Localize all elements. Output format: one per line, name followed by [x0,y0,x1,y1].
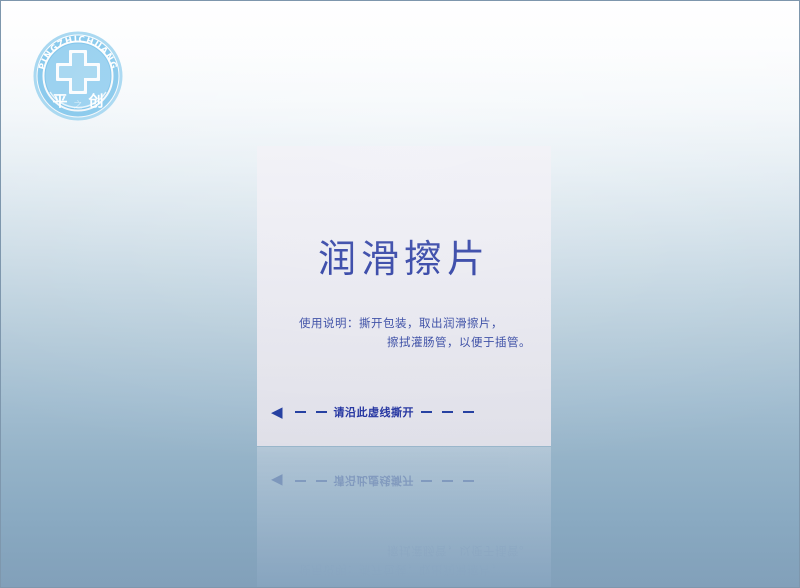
product-title: 润滑擦片 [257,228,551,283]
reflection-tear-line: ◀ 请沿此虚线撕开 [271,473,541,489]
tear-arrow-left-icon: ◀ [271,405,283,420]
tear-dash [295,411,306,413]
tear-dash [463,480,474,482]
tear-dash [421,411,432,413]
tear-line-label: 请沿此虚线撕开 [334,404,415,420]
pingzhichuang-logo: PINGZHICHUANG 平 之 创 [32,30,124,122]
reflection-usage-line-2: 擦拭灌肠管，以便于插管。 [279,541,535,560]
packet-reflection: 润滑擦片 使用说明：撕开包装，取出润滑擦片， 擦拭灌肠管，以便于插管。 ◀ 请沿… [257,447,551,588]
tear-line: ◀ 请沿此虚线撕开 [271,404,541,420]
product-packet: 润滑擦片 使用说明：撕开包装，取出润滑擦片， 擦拭灌肠管，以便于插管。 ◀ 请沿… [257,146,551,446]
usage-instructions-line-1: 使用说明：撕开包装，取出润滑擦片， [279,314,535,333]
reflection-usage-line-1: 使用说明：撕开包装，取出润滑擦片， [279,560,535,579]
tear-dash [463,411,474,413]
tear-dash [442,480,453,482]
tear-dash [295,480,306,482]
usage-instructions-line-2: 擦拭灌肠管，以便于插管。 [279,333,535,352]
tear-dash [316,480,327,482]
reflection-tear-line-label: 请沿此虚线撕开 [334,473,415,489]
product-packaging-scene: PINGZHICHUANG 平 之 创 润滑擦片 使用说明：撕开包装，取出润滑擦… [0,0,800,588]
tear-dash [316,411,327,413]
usage-instructions: 使用说明：撕开包装，取出润滑擦片， 擦拭灌肠管，以便于插管。 [279,314,535,352]
tear-dash [442,411,453,413]
reflection-usage-instructions: 使用说明：撕开包装，取出润滑擦片， 擦拭灌肠管，以便于插管。 [279,541,535,579]
svg-text:创: 创 [87,92,103,110]
svg-text:平: 平 [52,92,67,110]
svg-text:之: 之 [73,99,82,111]
tear-dash [421,480,432,482]
reflection-tear-arrow-left-icon: ◀ [271,474,283,489]
